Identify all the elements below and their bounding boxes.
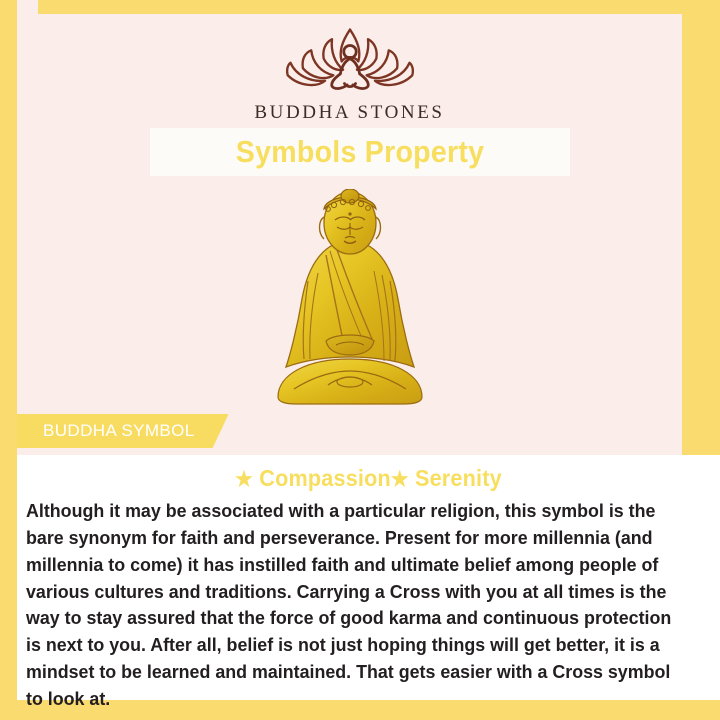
frame-top-bar xyxy=(38,0,720,14)
subtitle-word-compassion: Compassion xyxy=(253,465,391,491)
content-subtitle: ★ Compassion★ Serenity xyxy=(38,455,699,492)
brand-block: BUDDHA STONES xyxy=(17,24,682,124)
lotus-meditation-icon xyxy=(280,24,420,96)
content-panel: ★ Compassion★ Serenity Although it may b… xyxy=(17,455,720,700)
star-left-icon: ★ xyxy=(235,468,253,491)
status-badge: BUDDHA SYMBOL xyxy=(43,421,195,441)
poster-root: BUDDHA STONES Symbols Property xyxy=(0,0,720,720)
page-title: Symbols Property xyxy=(236,134,485,170)
star-right-icon: ★ xyxy=(391,468,409,491)
frame-right-bar xyxy=(682,0,720,508)
buddha-artwork xyxy=(17,182,682,407)
seated-golden-buddha-icon xyxy=(264,189,436,407)
body-paragraph: Although it may be associated with a par… xyxy=(26,498,688,713)
brand-name: BUDDHA STONES xyxy=(17,102,682,124)
badge-buddha-symbol: BUDDHA SYMBOL xyxy=(17,414,229,448)
title-band: Symbols Property xyxy=(150,128,570,176)
subtitle-word-serenity: Serenity xyxy=(409,465,502,491)
frame-left-bar xyxy=(0,0,17,720)
